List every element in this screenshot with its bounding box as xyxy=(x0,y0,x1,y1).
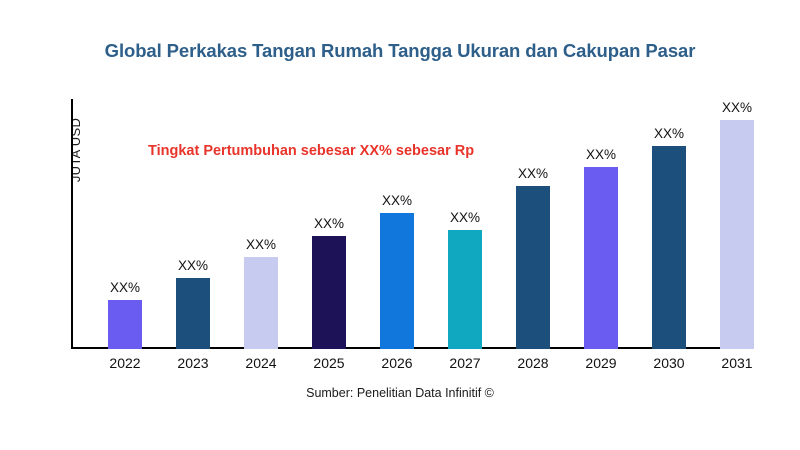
x-tick-2026: 2026 xyxy=(365,355,429,371)
plot-area: XX%2022XX%2023XX%2024XX%2025XX%2026XX%20… xyxy=(0,0,800,450)
x-tick-2025: 2025 xyxy=(297,355,361,371)
bar-value-label-2028: XX% xyxy=(503,166,563,181)
x-tick-2029: 2029 xyxy=(569,355,633,371)
bar-2023[interactable] xyxy=(176,278,210,349)
x-tick-2030: 2030 xyxy=(637,355,701,371)
bar-value-label-2024: XX% xyxy=(231,237,291,252)
source-note: Sumber: Penelitian Data Infinitif © xyxy=(0,386,800,400)
bar-value-label-2026: XX% xyxy=(367,193,427,208)
growth-rate-annotation: Tingkat Pertumbuhan sebesar XX% sebesar … xyxy=(148,143,474,159)
x-tick-2024: 2024 xyxy=(229,355,293,371)
bar-value-label-2025: XX% xyxy=(299,216,359,231)
bar-2024[interactable] xyxy=(244,257,278,349)
x-tick-2022: 2022 xyxy=(93,355,157,371)
chart-container: Global Perkakas Tangan Rumah Tangga Ukur… xyxy=(0,0,800,450)
x-tick-2023: 2023 xyxy=(161,355,225,371)
bar-value-label-2023: XX% xyxy=(163,258,223,273)
bar-value-label-2030: XX% xyxy=(639,126,699,141)
bar-2029[interactable] xyxy=(584,167,618,349)
bar-2025[interactable] xyxy=(312,236,346,349)
bar-2028[interactable] xyxy=(516,186,550,349)
bar-2026[interactable] xyxy=(380,213,414,349)
bar-2022[interactable] xyxy=(108,300,142,349)
bar-2027[interactable] xyxy=(448,230,482,349)
bar-2031[interactable] xyxy=(720,120,754,349)
x-tick-2031: 2031 xyxy=(705,355,769,371)
x-tick-2028: 2028 xyxy=(501,355,565,371)
bar-value-label-2031: XX% xyxy=(707,100,767,115)
x-tick-2027: 2027 xyxy=(433,355,497,371)
bar-value-label-2027: XX% xyxy=(435,210,495,225)
bar-2030[interactable] xyxy=(652,146,686,349)
bar-value-label-2022: XX% xyxy=(95,280,155,295)
bar-value-label-2029: XX% xyxy=(571,147,631,162)
